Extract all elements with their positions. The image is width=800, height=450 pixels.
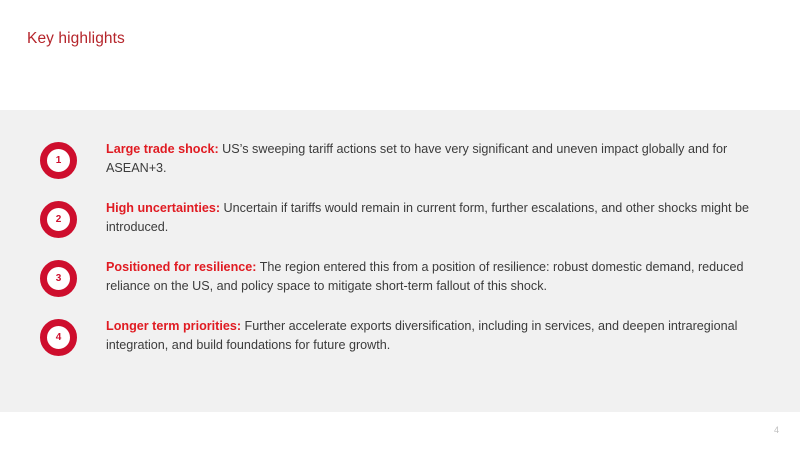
slide-root: Key highlights 1 Large trade shock: US’s… bbox=[0, 0, 800, 450]
list-item: 4 Longer term priorities: Further accele… bbox=[0, 315, 800, 356]
number-badge-2: 2 bbox=[40, 201, 77, 238]
badge-number: 3 bbox=[56, 274, 62, 284]
badge-number: 1 bbox=[56, 156, 62, 166]
number-badge-3: 3 bbox=[40, 260, 77, 297]
highlight-lead-label: Large trade shock: bbox=[106, 142, 219, 156]
highlight-text-2: High uncertainties: Uncertain if tariffs… bbox=[106, 197, 770, 237]
list-item: 1 Large trade shock: US’s sweeping tarif… bbox=[0, 138, 800, 179]
highlights-list: 1 Large trade shock: US’s sweeping tarif… bbox=[0, 110, 800, 356]
highlight-text-1: Large trade shock: US’s sweeping tariff … bbox=[106, 138, 770, 178]
highlight-text-4: Longer term priorities: Further accelera… bbox=[106, 315, 770, 355]
page-number: 4 bbox=[774, 424, 779, 436]
highlight-lead-label: Longer term priorities: bbox=[106, 319, 241, 333]
list-item: 3 Positioned for resilience: The region … bbox=[0, 256, 800, 297]
badge-number: 2 bbox=[56, 215, 62, 225]
page-title: Key highlights bbox=[27, 29, 125, 49]
list-item: 2 High uncertainties: Uncertain if tarif… bbox=[0, 197, 800, 238]
highlight-lead-label: Positioned for resilience: bbox=[106, 260, 256, 274]
highlights-panel: 1 Large trade shock: US’s sweeping tarif… bbox=[0, 110, 800, 412]
highlight-lead-label: High uncertainties: bbox=[106, 201, 220, 215]
number-badge-1: 1 bbox=[40, 142, 77, 179]
number-badge-4: 4 bbox=[40, 319, 77, 356]
highlight-text-3: Positioned for resilience: The region en… bbox=[106, 256, 770, 296]
badge-number: 4 bbox=[56, 333, 62, 343]
